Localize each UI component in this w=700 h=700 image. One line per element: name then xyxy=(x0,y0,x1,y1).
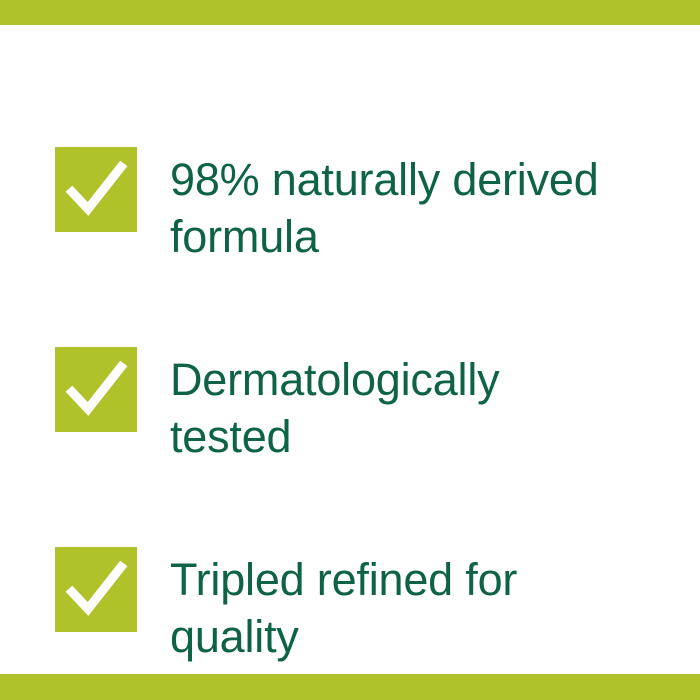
feature-list: 98% naturally derived formula Dermatolog… xyxy=(55,147,655,665)
feature-label-1: 98% naturally derived formula xyxy=(170,147,599,265)
check-badge-2 xyxy=(55,347,137,432)
check-badge-3 xyxy=(55,547,137,632)
check-badge-1 xyxy=(55,147,137,232)
list-item: Dermatologically tested xyxy=(55,347,655,465)
check-icon xyxy=(55,547,137,632)
feature-label-3: Tripled refined for quality xyxy=(170,547,517,665)
feature-callout-panel: 98% naturally derived formula Dermatolog… xyxy=(0,0,700,700)
check-icon xyxy=(55,347,137,432)
list-item: 98% naturally derived formula xyxy=(55,147,655,265)
list-item: Tripled refined for quality xyxy=(55,547,655,665)
check-icon xyxy=(55,147,137,232)
bottom-green-band xyxy=(0,674,700,700)
feature-label-2: Dermatologically tested xyxy=(170,347,499,465)
top-green-band xyxy=(0,0,700,25)
